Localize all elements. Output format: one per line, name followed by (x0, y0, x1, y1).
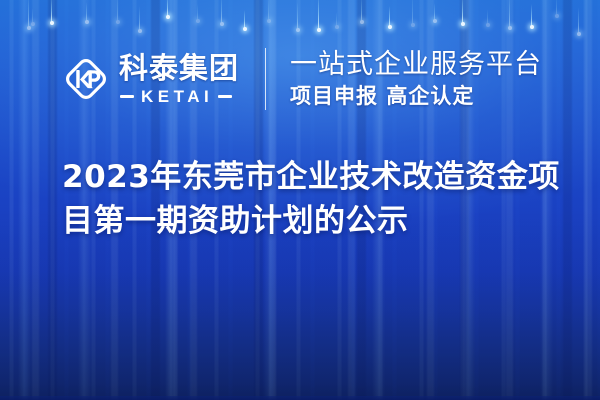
brand-dash-right-icon (218, 95, 232, 98)
light-streak-icon (462, 0, 463, 24)
light-streak-icon (487, 9, 488, 25)
header-divider (265, 48, 266, 110)
brand-name-en: KETAI (141, 88, 213, 105)
tagline-main: 一站式企业服务平台 (290, 50, 542, 80)
light-streak-icon (531, 4, 532, 27)
light-streak-icon (361, 0, 362, 22)
light-streak-icon (139, 6, 140, 31)
light-streak-icon (117, 0, 118, 22)
light-streak-icon (336, 12, 337, 27)
brand-wordmark: 科泰集团 KETAI (119, 53, 239, 104)
light-streak-icon (578, 7, 579, 34)
light-streak-icon (86, 2, 87, 22)
announcement-title-line-1: 2023年东莞市企业技术改造资金项 (62, 155, 562, 199)
brand-dash-left-icon (120, 95, 134, 98)
light-streak-icon (556, 0, 557, 16)
light-streak-icon (318, 0, 319, 30)
light-streak-icon (412, 0, 413, 25)
light-streak-icon (244, 10, 245, 29)
ketai-diamond-kp-logo-icon (62, 55, 110, 103)
light-streak-icon (32, 8, 33, 24)
light-streak-icon (167, 0, 168, 17)
light-streak-icon (389, 6, 390, 27)
light-streak-icon (509, 0, 510, 28)
light-streak-icon (51, 0, 52, 23)
light-streak-icon (297, 2, 298, 30)
light-streak-icon (197, 4, 198, 21)
tagline-block: 一站式企业服务平台 项目申报 高企认定 (290, 50, 542, 109)
light-streak-icon (434, 3, 435, 21)
announcement-title-line-2: 目第一期资助计划的公示 (62, 199, 562, 243)
announcement-title: 2023年东莞市企业技术改造资金项 目第一期资助计划的公示 (62, 155, 562, 243)
light-streak-icon (268, 0, 269, 21)
brand-lockup: 科泰集团 KETAI (62, 53, 239, 104)
brand-name-cn: 科泰集团 (119, 53, 239, 83)
light-streak-icon (221, 0, 222, 24)
announcement-banner: 科泰集团 KETAI 一站式企业服务平台 项目申报 高企认定 2023年东莞市企… (0, 0, 600, 400)
banner-header: 科泰集团 KETAI 一站式企业服务平台 项目申报 高企认定 (0, 40, 600, 118)
light-streak-icon (28, 0, 29, 28)
tagline-sub: 项目申报 高企认定 (290, 84, 542, 108)
brand-name-en-row: KETAI (119, 88, 239, 105)
